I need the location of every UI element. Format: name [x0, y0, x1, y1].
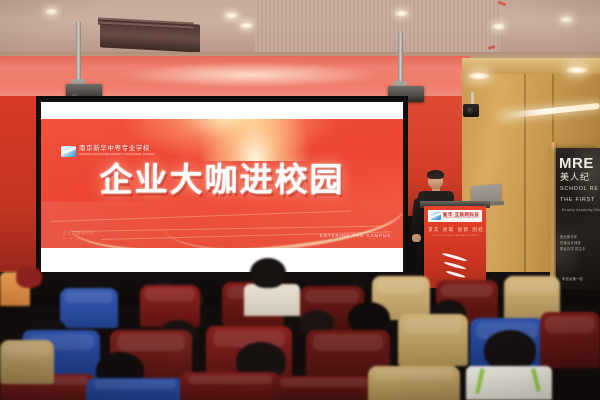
ceiling-downlight — [492, 23, 505, 30]
wood-seam — [524, 74, 526, 294]
speaker-hair — [427, 170, 444, 179]
wall-downlight — [566, 66, 588, 74]
wall-light-glow — [120, 62, 380, 88]
poster-line-small: Beauty Academy Recruitment — [562, 208, 600, 212]
poster-body-cn: 美业新青年 形象设计师班 联合办学 招生中 — [560, 234, 586, 252]
seat-blue — [60, 288, 118, 328]
podium-sign-en: XINHUA INTERNET TECHNOLOGY — [443, 217, 479, 219]
school-logo: 南京新华中等专业学校 NANJING XINHUA SECONDARY VOCA… — [61, 146, 155, 157]
school-name-en: NANJING XINHUA SECONDARY VOCATIONAL SCHO… — [79, 154, 155, 157]
seat-tan — [368, 366, 460, 400]
led-screen-frame: 南京新华中等专业学校 NANJING XINHUA SECONDARY VOCA… — [38, 98, 406, 283]
ceiling-slat-panel — [255, 0, 500, 58]
projector-mount-rod — [398, 32, 403, 82]
podium-slogan-cn: 求实 进取 创新 团结 — [428, 228, 482, 232]
sunburst-glow — [200, 119, 310, 161]
ceiling-downlight — [45, 8, 58, 15]
audience-head — [250, 258, 286, 288]
audience-head — [484, 330, 536, 370]
podium-slogan-en: TRUTH PROGRESS INNOVATION UNITY — [428, 235, 482, 237]
swoosh-logo-icon — [442, 248, 470, 278]
promo-poster: MRE 美人纪 SCHOOL RE THE FIRST Beauty Acade… — [556, 148, 600, 290]
red-wall-left — [0, 96, 40, 286]
podium-sign: 新华·互联网科技 XINHUA INTERNET TECHNOLOGY — [428, 210, 482, 222]
banner-subtitle-en: ENTERING THE CAMPUS — [320, 233, 391, 238]
seat-red — [272, 376, 376, 400]
seat-tan — [0, 340, 54, 384]
school-name-cn: 南京新华中等专业学校 — [79, 146, 155, 153]
seat-red — [180, 372, 280, 400]
camera-lens-icon — [467, 107, 474, 114]
seat-blue — [86, 378, 184, 400]
ceiling-downlight — [225, 12, 238, 19]
poster-title-cn: 美人纪 — [560, 173, 590, 182]
auditorium-photo: 南京新华中等专业学校 NANJING XINHUA SECONDARY VOCA… — [0, 0, 600, 400]
banner-wave-base — [41, 202, 403, 248]
poster-footer-cn: 毕业后第一站 — [562, 277, 583, 282]
seat-tan — [398, 314, 468, 366]
speaker-hand — [412, 234, 421, 242]
banner-headline: 企业大咖进校园 — [41, 163, 403, 196]
projector-mount-rod — [76, 22, 81, 80]
wall-downlight — [468, 72, 490, 80]
audience-head — [16, 266, 42, 288]
poster-line-en-2: THE FIRST — [560, 197, 595, 203]
ceiling-downlight — [395, 10, 408, 17]
poster-brand: MRE — [559, 156, 594, 171]
banner-dots: • • • — [63, 236, 81, 242]
poster-line-en-1: SCHOOL RE — [560, 186, 599, 192]
event-banner-artwork: 南京新华中等专业学校 NANJING XINHUA SECONDARY VOCA… — [41, 119, 403, 248]
ceiling-downlight — [240, 22, 253, 29]
podium-emblem-icon — [431, 212, 441, 220]
audience-shirt-light — [244, 284, 300, 316]
school-emblem-icon — [61, 146, 76, 157]
seat-red — [540, 312, 600, 368]
ceiling-downlight — [560, 16, 573, 23]
led-screen-display: 南京新华中等专业学校 NANJING XINHUA SECONDARY VOCA… — [41, 102, 403, 274]
